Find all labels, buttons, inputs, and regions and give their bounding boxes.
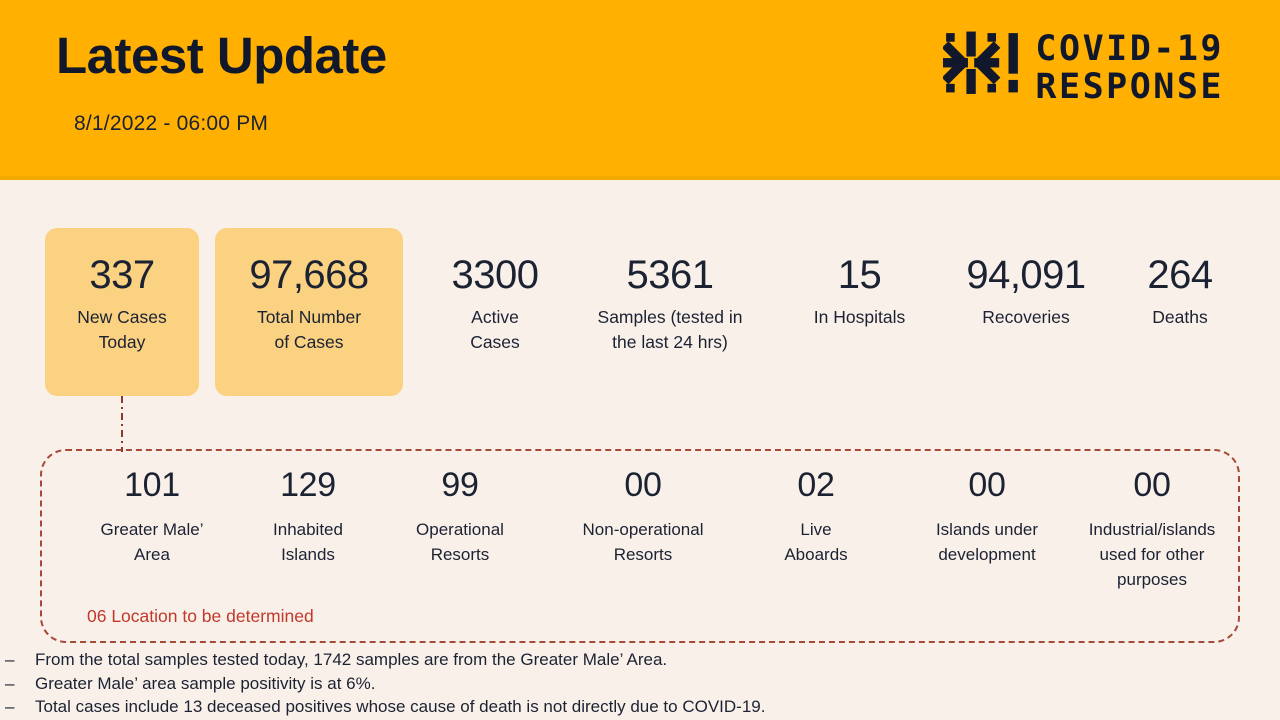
logo-line-2: RESPONSE bbox=[1035, 69, 1224, 107]
stat-value: 337 bbox=[45, 254, 199, 296]
new-cases-breakdown-connector-line bbox=[121, 396, 123, 452]
footnote-item: – From the total samples tested today, 1… bbox=[0, 648, 1280, 672]
update-timestamp: 8/1/2022 - 06:00 PM bbox=[74, 112, 268, 136]
footnote-item: – Total cases include 13 deceased positi… bbox=[0, 695, 1280, 719]
stat-value: 15 bbox=[782, 228, 937, 296]
stat-label: ActiveCases bbox=[424, 305, 566, 355]
breakdown-label: Islands underdevelopment bbox=[882, 518, 1092, 567]
logo-line-1: COVID-19 bbox=[1035, 31, 1224, 69]
breakdown-label: Greater Male’Area bbox=[52, 518, 252, 567]
footnotes-list: – From the total samples tested today, 1… bbox=[0, 648, 1280, 719]
covid-starburst-exclamation-icon bbox=[943, 30, 1021, 108]
stat-value: 97,668 bbox=[215, 254, 403, 296]
page-title: Latest Update bbox=[56, 26, 387, 85]
stat-label: Samples (tested inthe last 24 hrs) bbox=[570, 305, 770, 355]
breakdown-value: 99 bbox=[372, 467, 548, 504]
stat-new-cases-today: 337 New CasesToday bbox=[45, 228, 199, 396]
stat-samples-tested: 5361 Samples (tested inthe last 24 hrs) bbox=[570, 228, 770, 355]
breakdown-value: 00 bbox=[882, 467, 1092, 504]
logo-wordmark: COVID-19 RESPONSE bbox=[1035, 31, 1224, 107]
breakdown-value: 02 bbox=[742, 467, 890, 504]
location-to-be-determined-note: 06 Location to be determined bbox=[87, 606, 314, 627]
breakdown-item-live-aboards: 02 LiveAboards bbox=[742, 467, 890, 568]
footnote-text: Total cases include 13 deceased positive… bbox=[35, 697, 765, 716]
stat-label: New CasesToday bbox=[45, 305, 199, 355]
stat-deaths: 264 Deaths bbox=[1112, 228, 1248, 330]
breakdown-label: LiveAboards bbox=[742, 518, 890, 567]
footnote-text: From the total samples tested today, 174… bbox=[35, 650, 667, 669]
breakdown-label: InhabitedIslands bbox=[237, 518, 379, 567]
breakdown-item-industrial-islands: 00 Industrial/islandsused for otherpurpo… bbox=[1062, 467, 1242, 592]
stat-total-cases: 97,668 Total Numberof Cases bbox=[215, 228, 403, 396]
stat-label: In Hospitals bbox=[782, 305, 937, 330]
breakdown-item-greater-male-area: 101 Greater Male’Area bbox=[52, 467, 252, 568]
stat-value: 5361 bbox=[570, 228, 770, 296]
summary-statistics-row: 337 New CasesToday 97,668 Total Numberof… bbox=[0, 228, 1280, 403]
breakdown-label: Industrial/islandsused for otherpurposes bbox=[1062, 518, 1242, 592]
breakdown-value: 101 bbox=[52, 467, 252, 504]
stat-in-hospitals: 15 In Hospitals bbox=[782, 228, 937, 330]
new-cases-location-breakdown-panel: 101 Greater Male’Area 129 InhabitedIslan… bbox=[40, 449, 1240, 643]
breakdown-label: OperationalResorts bbox=[372, 518, 548, 567]
stat-label: Recoveries bbox=[940, 305, 1112, 330]
stat-value: 3300 bbox=[424, 228, 566, 296]
breakdown-label: Non-operationalResorts bbox=[532, 518, 754, 567]
breakdown-item-non-operational-resorts: 00 Non-operationalResorts bbox=[532, 467, 754, 568]
stat-recoveries: 94,091 Recoveries bbox=[940, 228, 1112, 330]
breakdown-item-inhabited-islands: 129 InhabitedIslands bbox=[237, 467, 379, 568]
stat-label: Total Numberof Cases bbox=[215, 305, 403, 355]
breakdown-value: 00 bbox=[1062, 467, 1242, 504]
breakdown-value: 129 bbox=[237, 467, 379, 504]
stat-value: 94,091 bbox=[940, 228, 1112, 296]
breakdown-value: 00 bbox=[532, 467, 754, 504]
dash-marker-icon: – bbox=[5, 648, 14, 672]
stat-active-cases: 3300 ActiveCases bbox=[424, 228, 566, 355]
breakdown-item-operational-resorts: 99 OperationalResorts bbox=[372, 467, 548, 568]
stat-label: Deaths bbox=[1112, 305, 1248, 330]
footnote-item: – Greater Male’ area sample positivity i… bbox=[0, 672, 1280, 696]
stat-value: 264 bbox=[1112, 228, 1248, 296]
footnote-text: Greater Male’ area sample positivity is … bbox=[35, 674, 375, 693]
covid-response-logo: COVID-19 RESPONSE bbox=[943, 30, 1224, 108]
page-header: Latest Update 8/1/2022 - 06:00 PM bbox=[0, 0, 1280, 180]
dash-marker-icon: – bbox=[5, 695, 14, 719]
breakdown-item-islands-under-development: 00 Islands underdevelopment bbox=[882, 467, 1092, 568]
dash-marker-icon: – bbox=[5, 672, 14, 696]
